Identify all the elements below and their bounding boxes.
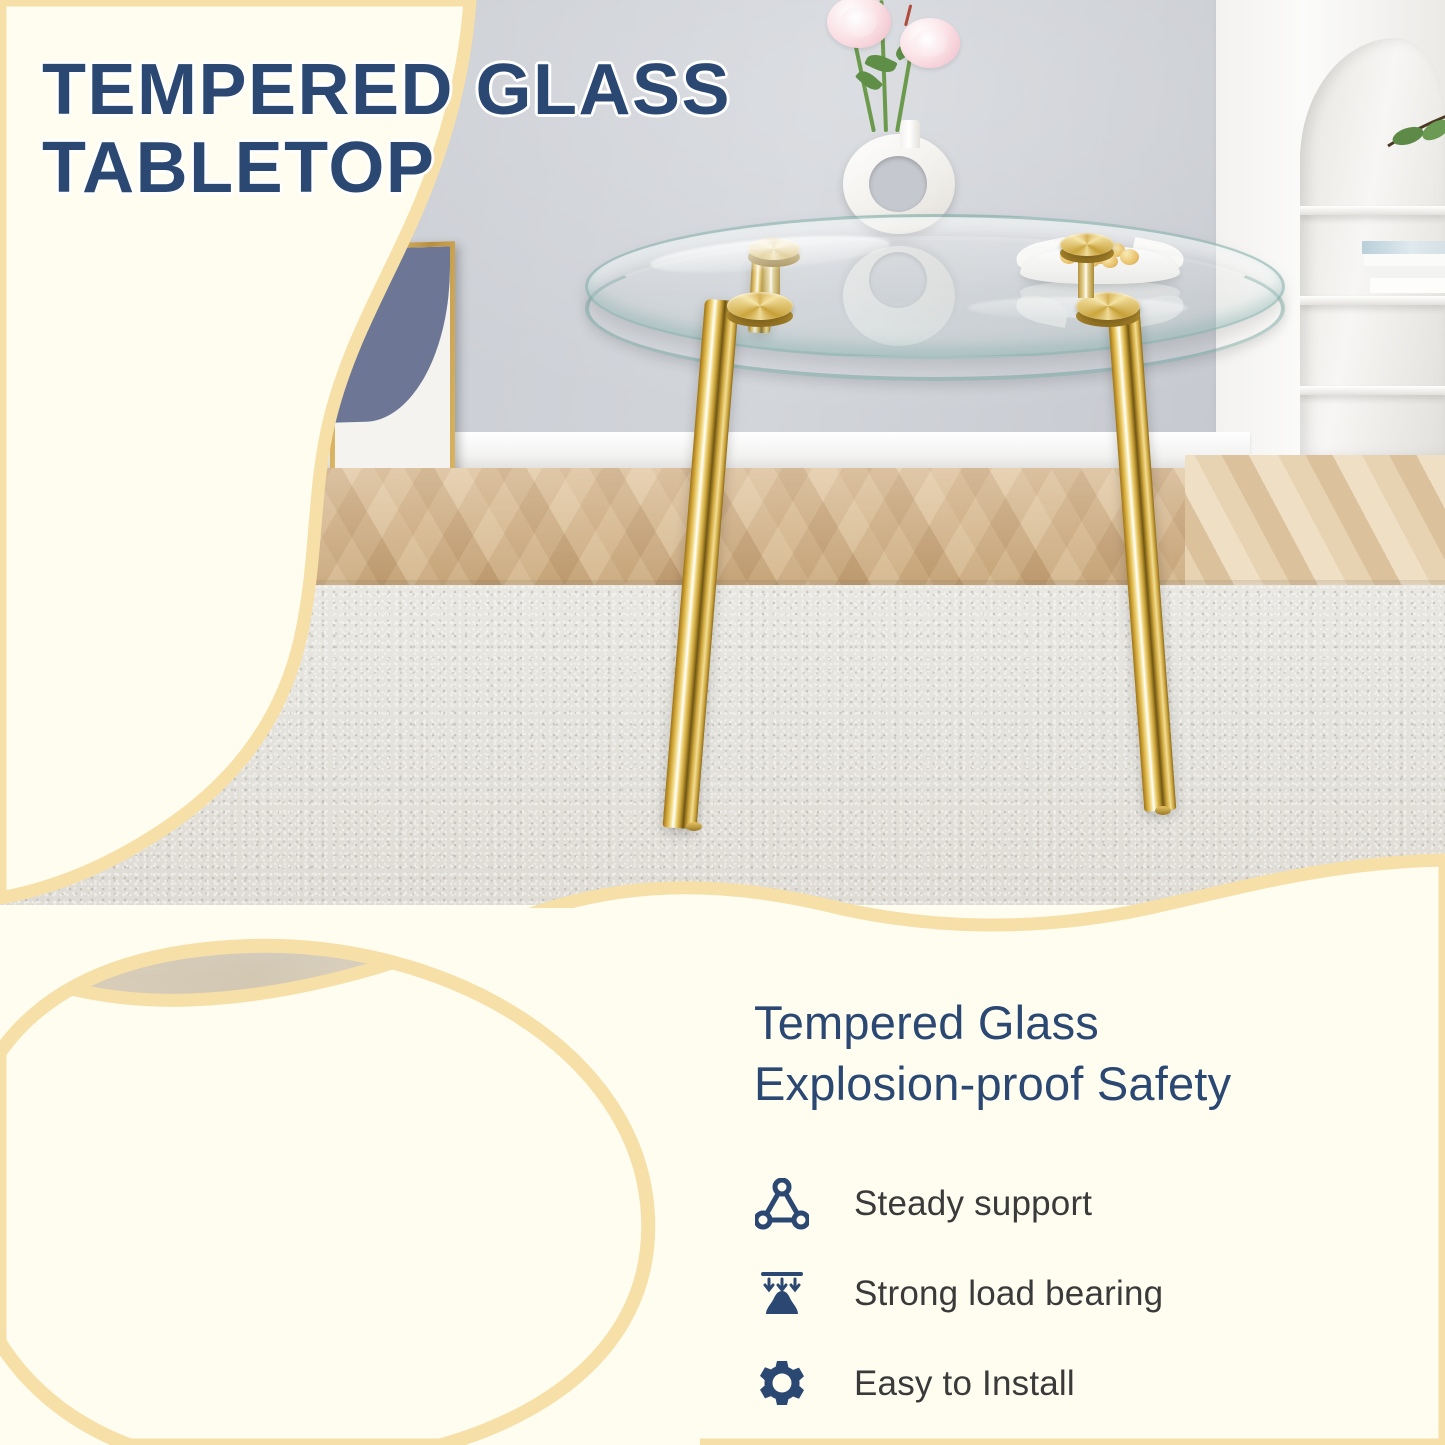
feature-item-steady-support: Steady support — [752, 1163, 1392, 1245]
product-infographic-canvas: TEMPERED GLASS TABLETOP Tempered Glass E… — [0, 0, 1445, 1445]
load-bearing-icon — [752, 1264, 812, 1324]
detail-closeup-photo — [0, 930, 660, 1445]
feature-label: Strong load bearing — [854, 1274, 1163, 1314]
table-leg-front-left — [663, 299, 739, 830]
detail-table-leg — [212, 1157, 306, 1445]
feature-label: Easy to Install — [854, 1364, 1075, 1404]
gear-icon — [752, 1354, 812, 1414]
feature-label: Steady support — [854, 1184, 1092, 1224]
leg-cap-front-left — [727, 292, 793, 320]
feature-item-easy-install: Easy to Install — [752, 1343, 1392, 1425]
table-leg-foot — [1155, 806, 1171, 815]
headline-line-1: TEMPERED GLASS — [42, 50, 731, 130]
feature-list: Steady support Strong load bearing — [752, 1163, 1392, 1433]
glass-tabletop — [585, 214, 1285, 359]
page-title: TEMPERED GLASS TABLETOP — [42, 52, 922, 208]
triangle-nodes-icon — [752, 1174, 812, 1234]
feature-item-load-bearing: Strong load bearing — [752, 1253, 1392, 1335]
table-leg-right — [1107, 301, 1176, 812]
subheadline: Tempered Glass Explosion-proof Safety — [754, 992, 1414, 1114]
headline-line-2: TABLETOP — [42, 130, 922, 208]
table-leg-foot — [686, 822, 702, 831]
leg-cap-rear-right — [1060, 233, 1114, 256]
subheadline-line-2: Explosion-proof Safety — [754, 1057, 1231, 1110]
subheadline-line-1: Tempered Glass — [754, 996, 1099, 1049]
